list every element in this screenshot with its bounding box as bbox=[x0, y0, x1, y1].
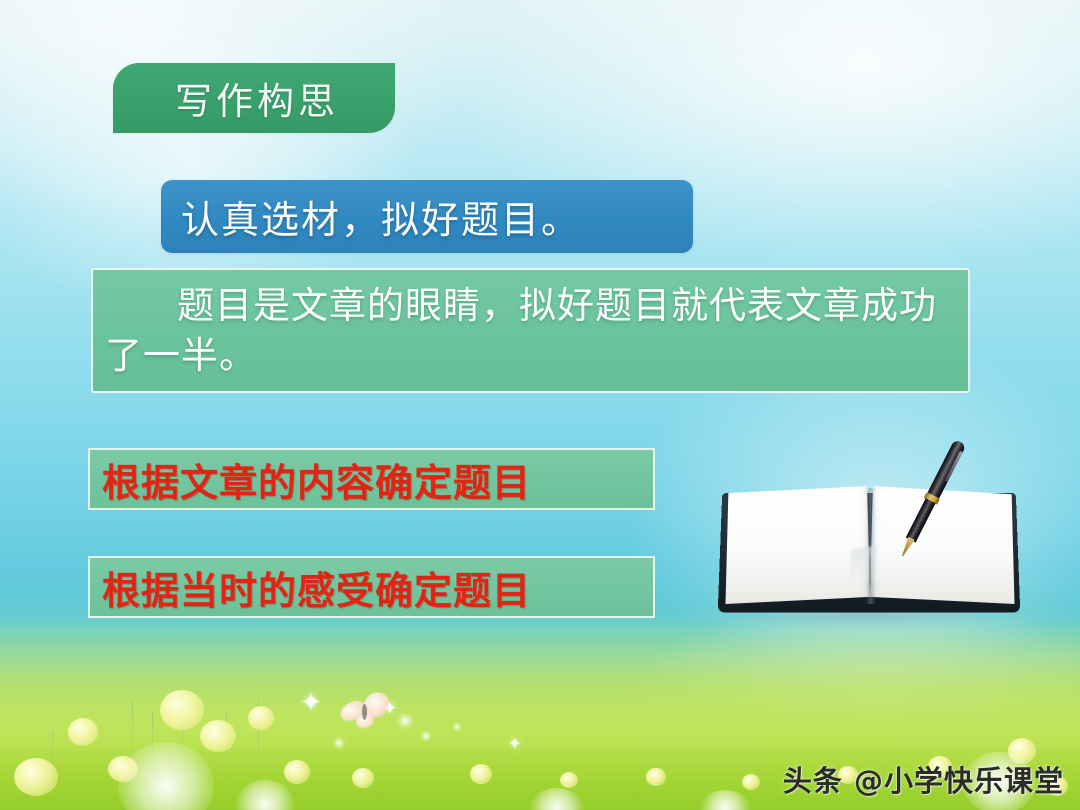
meadow-flower bbox=[68, 718, 98, 746]
point-box-2: 根据当时的感受确定题目 bbox=[88, 556, 655, 618]
sub-heading-banner: 认真选材，拟好题目。 bbox=[161, 180, 693, 253]
sparkle-star: ✦ bbox=[300, 690, 322, 716]
sparkle-star: ✦ bbox=[508, 736, 521, 752]
meadow-flower bbox=[248, 706, 274, 730]
title-banner: 写作构思 bbox=[113, 63, 395, 133]
sub-heading-label: 认真选材，拟好题目。 bbox=[161, 189, 581, 244]
meadow-flower bbox=[560, 772, 578, 788]
meadow-flower bbox=[14, 758, 58, 796]
notebook-illustration bbox=[700, 420, 1040, 650]
meadow-flower bbox=[352, 768, 374, 788]
pen-reflection bbox=[850, 545, 877, 584]
butterfly bbox=[338, 690, 394, 734]
sparkle bbox=[452, 722, 462, 732]
sparkle bbox=[332, 736, 346, 750]
meadow-flower bbox=[742, 774, 760, 790]
butterfly-body bbox=[362, 704, 367, 720]
sparkle bbox=[420, 730, 432, 742]
notebook-page-right bbox=[870, 486, 1016, 604]
presentation-slide: ✦ ✦ ✦ 写作构思 认真选材，拟好题目。 题目是文章的眼睛，拟好题目就代表文章… bbox=[0, 0, 1080, 810]
point-box-1: 根据文章的内容确定题目 bbox=[88, 448, 655, 510]
meadow-flower bbox=[200, 720, 236, 752]
sparkle bbox=[396, 712, 414, 730]
point-label-2: 根据当时的感受确定题目 bbox=[90, 560, 531, 615]
watermark: 头条 @小学快乐课堂 bbox=[783, 758, 1064, 800]
point-label-1: 根据文章的内容确定题目 bbox=[90, 452, 531, 507]
paragraph-text: 题目是文章的眼睛，拟好题目就代表文章成功了一半。 bbox=[93, 281, 968, 381]
paragraph-block: 题目是文章的眼睛，拟好题目就代表文章成功了一半。 bbox=[91, 268, 970, 393]
meadow-flower bbox=[470, 764, 492, 784]
title-banner-label: 写作构思 bbox=[169, 71, 339, 125]
meadow-flower bbox=[646, 768, 666, 786]
notebook-page-left bbox=[724, 486, 870, 604]
meadow-flower bbox=[160, 690, 204, 730]
meadow-flower bbox=[284, 760, 310, 784]
